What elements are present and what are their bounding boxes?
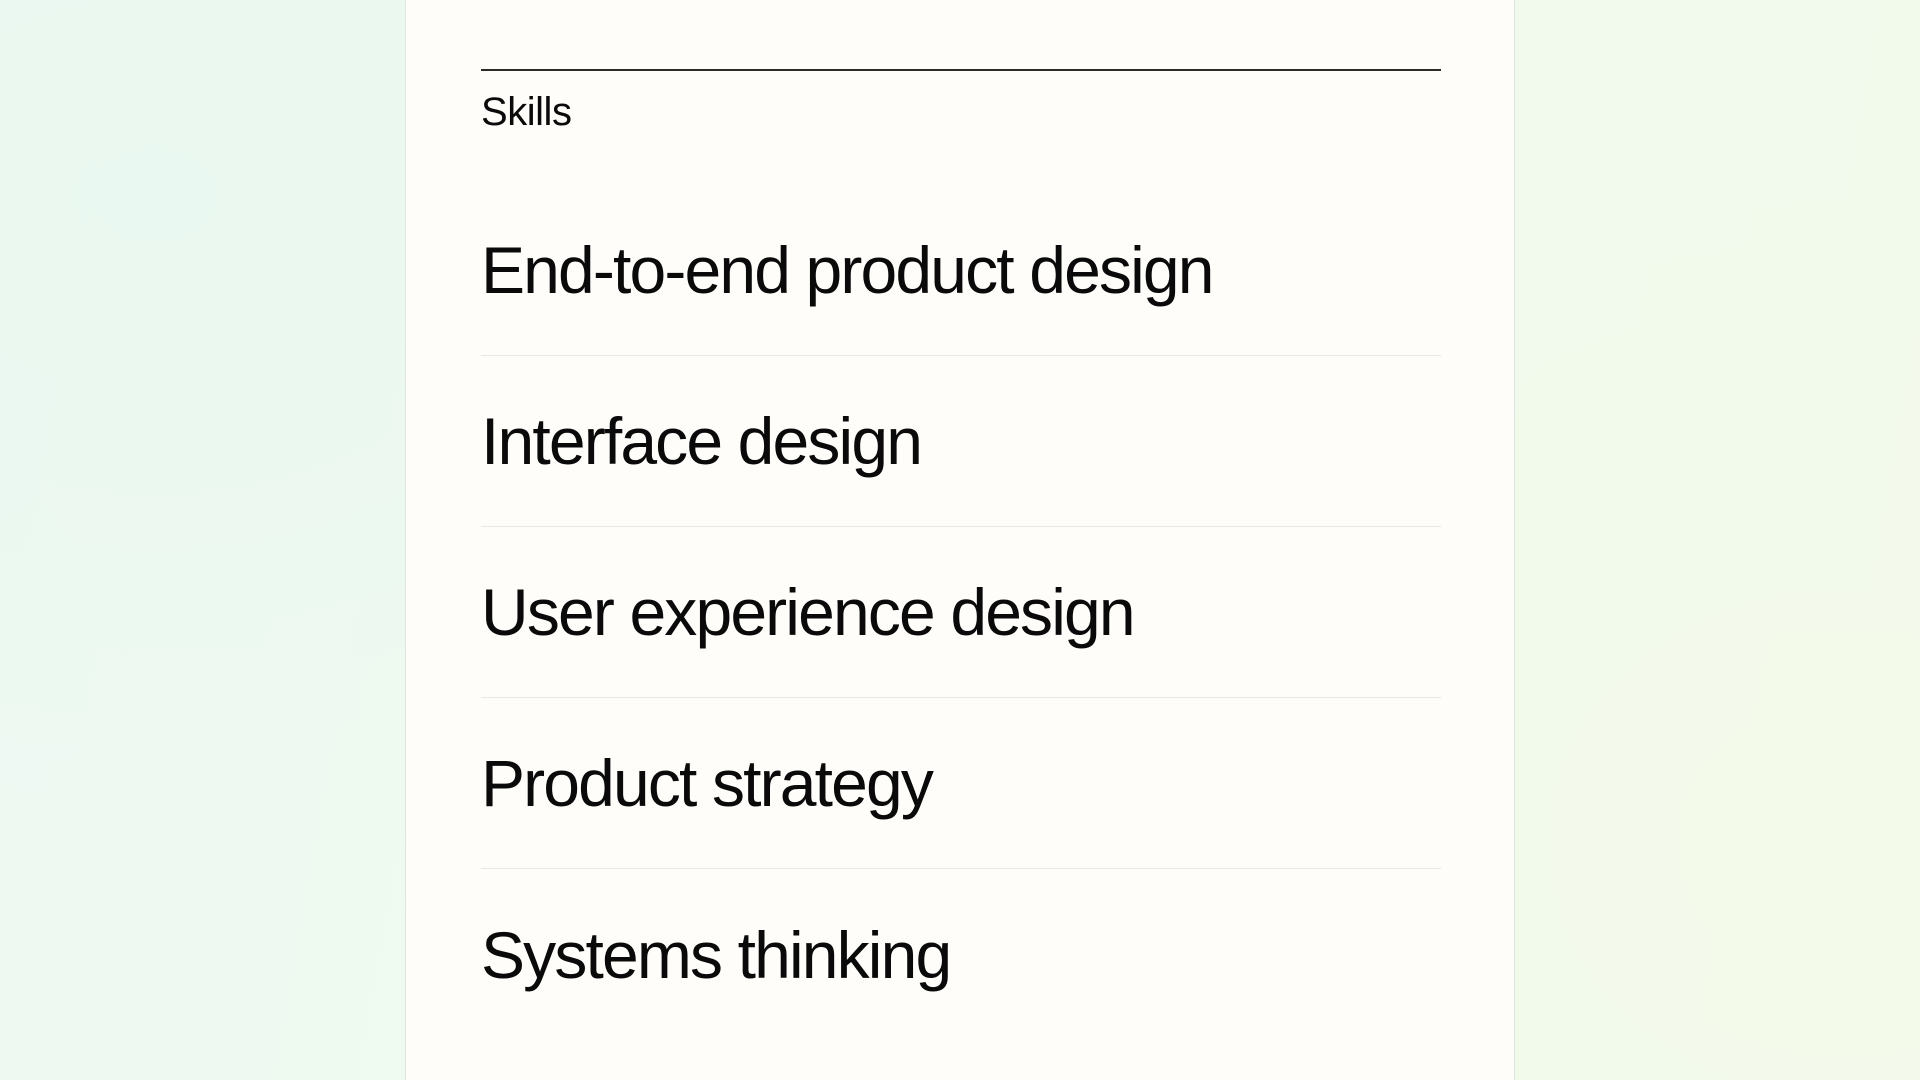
section-title-skills: Skills [481,91,1441,133]
skill-label: Systems thinking [481,922,950,988]
content-card: Skills End-to-end product design Interfa… [405,0,1515,1080]
list-item[interactable]: Interface design [481,356,1441,527]
skill-label: User experience design [481,579,1134,645]
skill-label: Interface design [481,408,921,474]
list-item[interactable]: User experience design [481,527,1441,698]
list-item[interactable]: Product strategy [481,698,1441,869]
section-top-rule [481,69,1441,71]
skill-label: End-to-end product design [481,237,1213,303]
card-content: Skills End-to-end product design Interfa… [481,0,1441,1040]
skills-list: End-to-end product design Interface desi… [481,185,1441,1040]
list-item[interactable]: Systems thinking [481,869,1441,1040]
list-item[interactable]: End-to-end product design [481,185,1441,356]
skill-label: Product strategy [481,750,932,816]
